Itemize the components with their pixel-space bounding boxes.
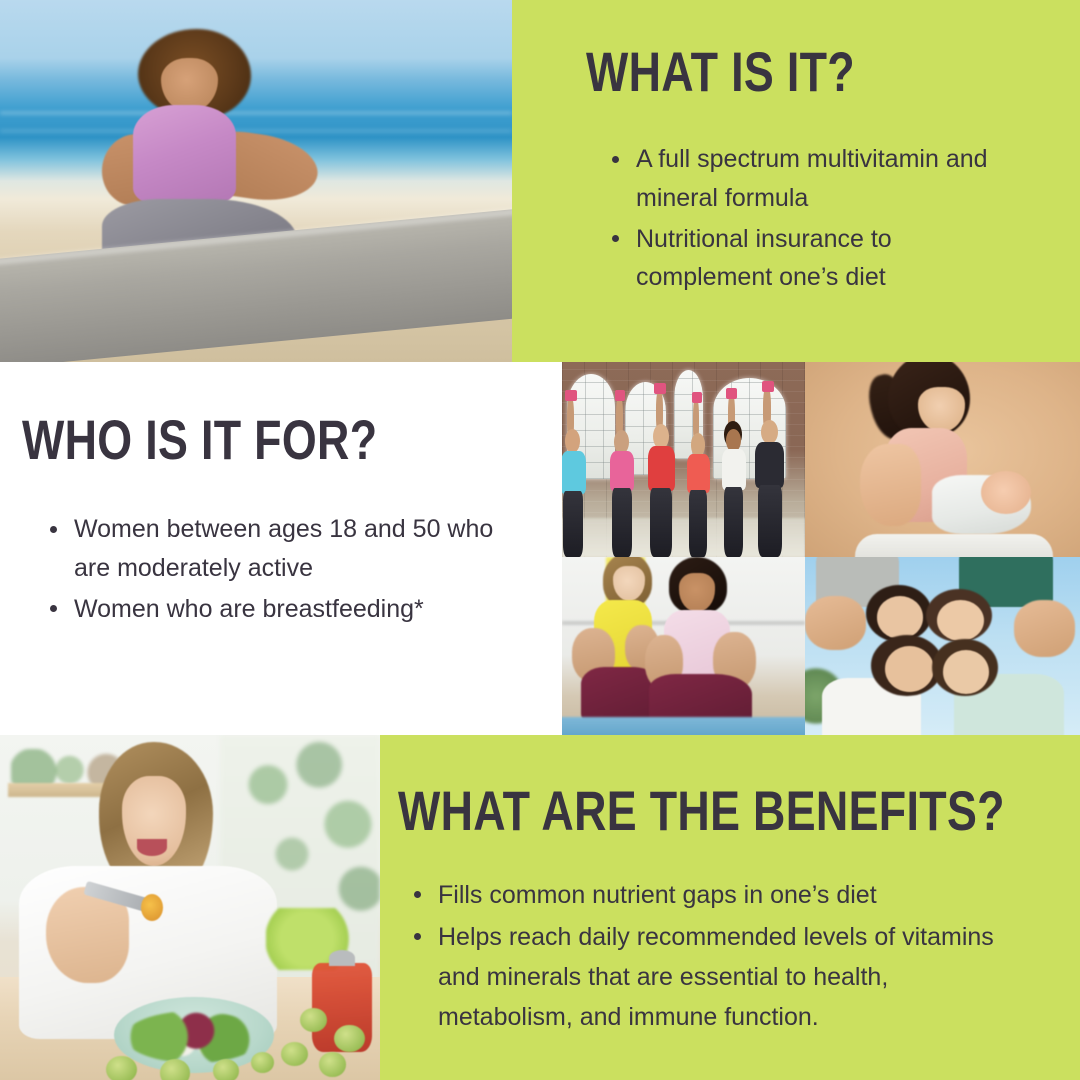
friend-2-face: [937, 600, 984, 641]
heading-what-is-it: WHAT IS IT?: [586, 44, 855, 100]
infographic-poster: WHAT IS IT? A full spectrum multivitamin…: [0, 0, 1080, 1080]
list-item: Nutritional insurance to complement one’…: [610, 220, 1010, 298]
yoga-mat: [562, 717, 805, 735]
breastfeeding-scene-backdrop: [805, 362, 1080, 557]
list-item: Women between ages 18 and 50 who are mod…: [48, 510, 496, 588]
brussels-sprout: [251, 1052, 274, 1073]
nursing-chair: [855, 534, 1053, 557]
friend-1-arm: [805, 596, 866, 649]
friend-1-face: [877, 596, 924, 639]
bullet-list-what-are-the-benefits: Fills common nutrient gaps in one’s diet…: [412, 875, 1026, 1039]
gym-participant: [752, 413, 791, 557]
surf-line-2: [0, 130, 512, 132]
gym-scene-backdrop: [562, 362, 805, 557]
diner-smile: [137, 839, 167, 856]
surf-line: [0, 112, 512, 114]
kitchen-scene-backdrop: [0, 735, 380, 1080]
list-item-text: A full spectrum multivitamin and mineral…: [636, 145, 988, 212]
gym-participant: [562, 421, 591, 558]
bullet-dot-icon: [414, 933, 421, 940]
yoga-studio-backdrop: [562, 557, 805, 735]
photo-gym-class: [562, 362, 805, 557]
brussels-sprout: [319, 1052, 346, 1076]
friend-2-arm: [1014, 600, 1075, 657]
list-item-text: Nutritional insurance to complement one’…: [636, 225, 892, 292]
photo-salad-meal: [0, 735, 380, 1080]
section-what-is-it: WHAT IS IT? A full spectrum multivitamin…: [512, 0, 1080, 362]
bullet-dot-icon: [612, 156, 619, 163]
heading-what-are-the-benefits: WHAT ARE THE BENEFITS?: [398, 783, 1005, 839]
section-who-is-it-for: WHO IS IT FOR? Women between ages 18 and…: [0, 362, 562, 735]
photo-yoga-pair: [562, 557, 805, 735]
gym-participant: [718, 421, 752, 558]
gym-participant: [645, 417, 681, 557]
salad-contents: [125, 1011, 262, 1063]
section-what-are-the-benefits: WHAT ARE THE BENEFITS? Fills common nutr…: [380, 735, 1080, 1080]
list-item: Fills common nutrient gaps in one’s diet: [412, 875, 1026, 915]
mother-arm: [860, 444, 921, 526]
friend-4-face: [943, 650, 990, 695]
bullet-list-who-is-it-for: Women between ages 18 and 50 who are mod…: [48, 510, 496, 630]
list-item-text: Women who are breastfeeding*: [74, 595, 424, 623]
photo-breastfeeding: [805, 362, 1080, 557]
bullet-dot-icon: [50, 605, 57, 612]
beach-scene-backdrop: [0, 0, 512, 362]
brussels-sprout: [300, 1008, 327, 1032]
brussels-sprout: [106, 1056, 136, 1080]
gym-participant: [684, 428, 716, 557]
meditator-tank-top: [133, 105, 235, 206]
photo-beach-meditation: [0, 0, 512, 362]
gym-participant: [606, 424, 640, 557]
brussels-sprout: [213, 1059, 240, 1080]
bullet-dot-icon: [50, 526, 57, 533]
brussels-sprout: [334, 1025, 364, 1053]
brussels-sprout: [160, 1059, 190, 1080]
list-item: Helps reach daily recommended levels of …: [412, 917, 1026, 1037]
list-item: A full spectrum multivitamin and mineral…: [610, 140, 1010, 218]
huddle-sky-backdrop: [805, 557, 1080, 735]
brussels-sprout: [281, 1042, 308, 1066]
list-item-text: Women between ages 18 and 50 who are mod…: [74, 515, 493, 582]
list-item-text: Fills common nutrient gaps in one’s diet: [438, 881, 877, 909]
heading-who-is-it-for: WHO IS IT FOR?: [22, 412, 377, 468]
bullet-dot-icon: [612, 235, 619, 242]
bullet-list-what-is-it: A full spectrum multivitamin and mineral…: [610, 140, 1010, 299]
list-item: Women who are breastfeeding*: [48, 590, 496, 629]
bullet-dot-icon: [414, 891, 421, 898]
photo-friends-huddle: [805, 557, 1080, 735]
baby-head: [981, 471, 1031, 514]
list-item-text: Helps reach daily recommended levels of …: [438, 923, 994, 1031]
